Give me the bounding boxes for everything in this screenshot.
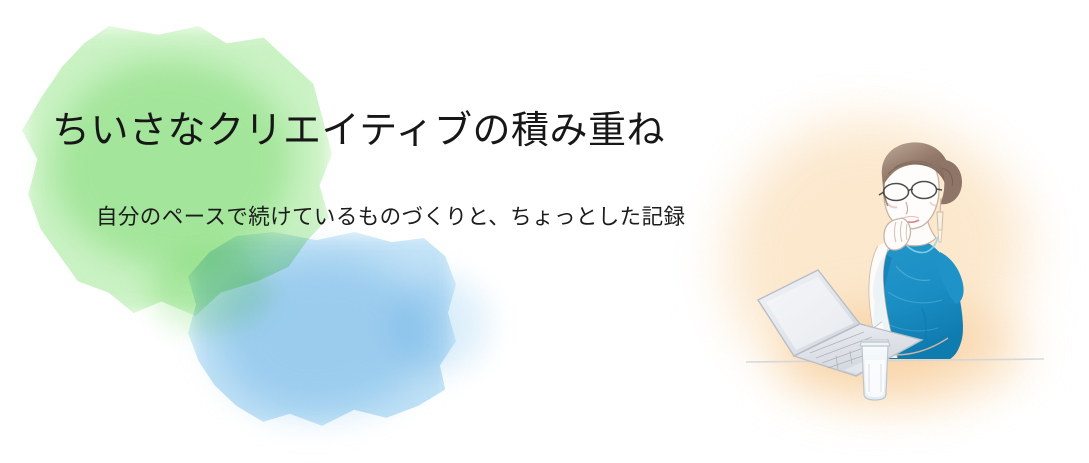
earring-icon — [937, 198, 943, 242]
woman-at-laptop-illustration — [736, 126, 1056, 406]
blue-watercolor-blob-inner — [215, 255, 430, 415]
green-watercolor-wisp — [150, 250, 270, 330]
site-header-banner: ちいさなクリエイティブの積み重ね 自分のペースで続けているものづくりと、ちょっと… — [0, 0, 1089, 463]
page-title: ちいさなクリエイティブの積み重ね — [52, 108, 665, 156]
blue-watercolor-wisp — [392, 276, 488, 372]
tumbler-icon — [860, 340, 890, 400]
blue-watercolor-blob — [188, 232, 456, 434]
green-watercolor-blob-inner — [52, 60, 292, 270]
page-subtitle: 自分のペースで続けているものづくりと、ちょっとした記録 — [96, 203, 685, 232]
green-watercolor-blob — [22, 26, 332, 316]
